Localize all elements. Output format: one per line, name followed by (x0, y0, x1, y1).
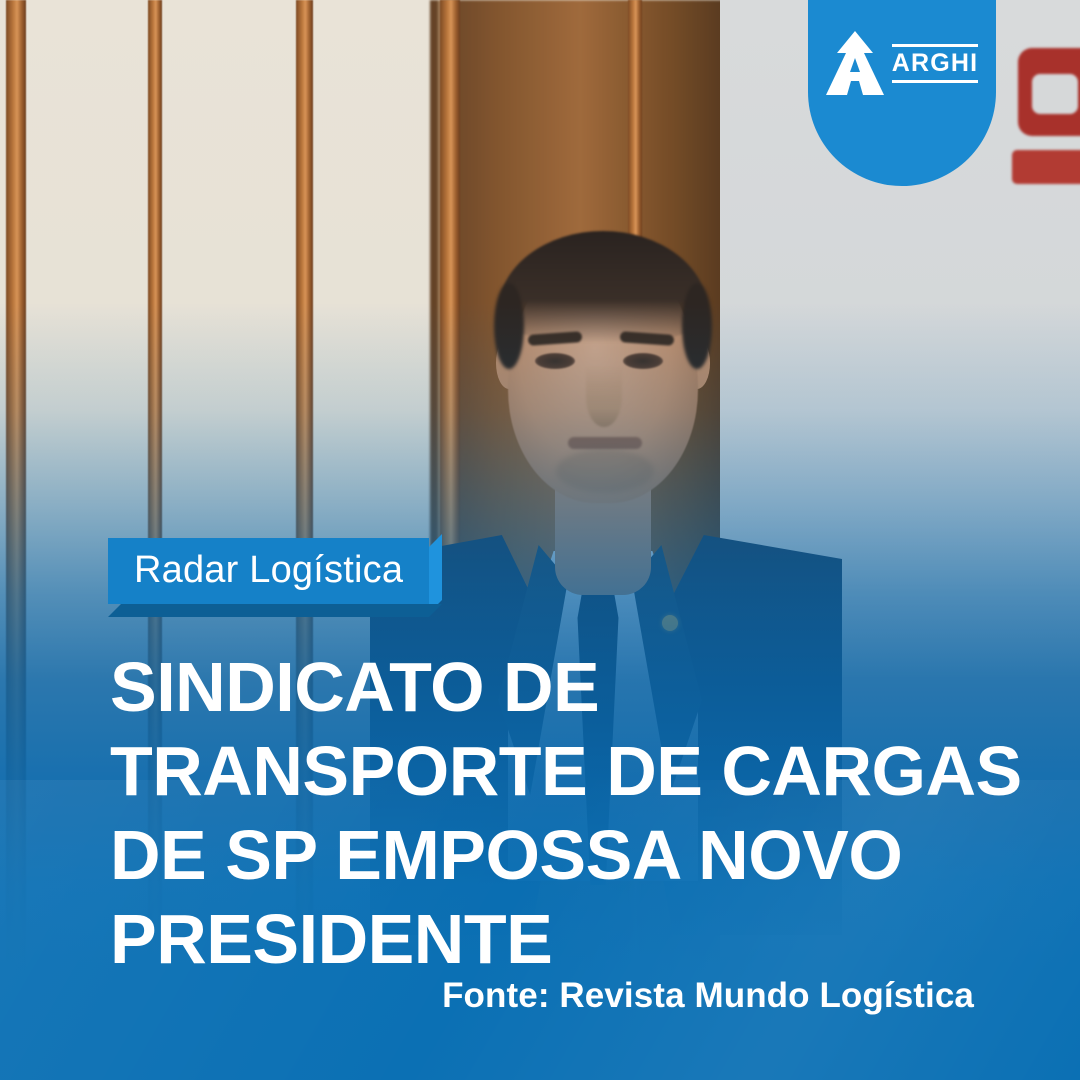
brand-logo-badge[interactable]: ARGHI (808, 0, 996, 186)
source-attribution: Fonte: Revista Mundo Logística (442, 976, 974, 1016)
wordmark-rule-top (892, 44, 979, 47)
headline-line: PRESIDENTE (110, 897, 990, 981)
headline-line: DE SP EMPOSSA NOVO (110, 813, 990, 897)
category-tag-wrapper: Radar Logística (108, 538, 429, 604)
headline-line: TRANSPORTE DE CARGAS (110, 729, 990, 813)
social-media-card: ARGHI Radar Logística SINDICATO DE TRANS… (0, 0, 1080, 1080)
headline: SINDICATO DE TRANSPORTE DE CARGAS DE SP … (110, 645, 990, 981)
brand-wordmark: ARGHI (892, 44, 979, 83)
headline-line: SINDICATO DE (110, 645, 990, 729)
tag-3d-shadow (108, 604, 442, 617)
category-tag-label: Radar Logística (134, 549, 403, 591)
a-arrow-logo-icon (826, 31, 884, 95)
wordmark-rule-bottom (892, 80, 979, 83)
wordmark-text: ARGHI (892, 51, 979, 76)
tag-3d-side (429, 534, 442, 613)
category-tag[interactable]: Radar Logística (108, 538, 429, 604)
